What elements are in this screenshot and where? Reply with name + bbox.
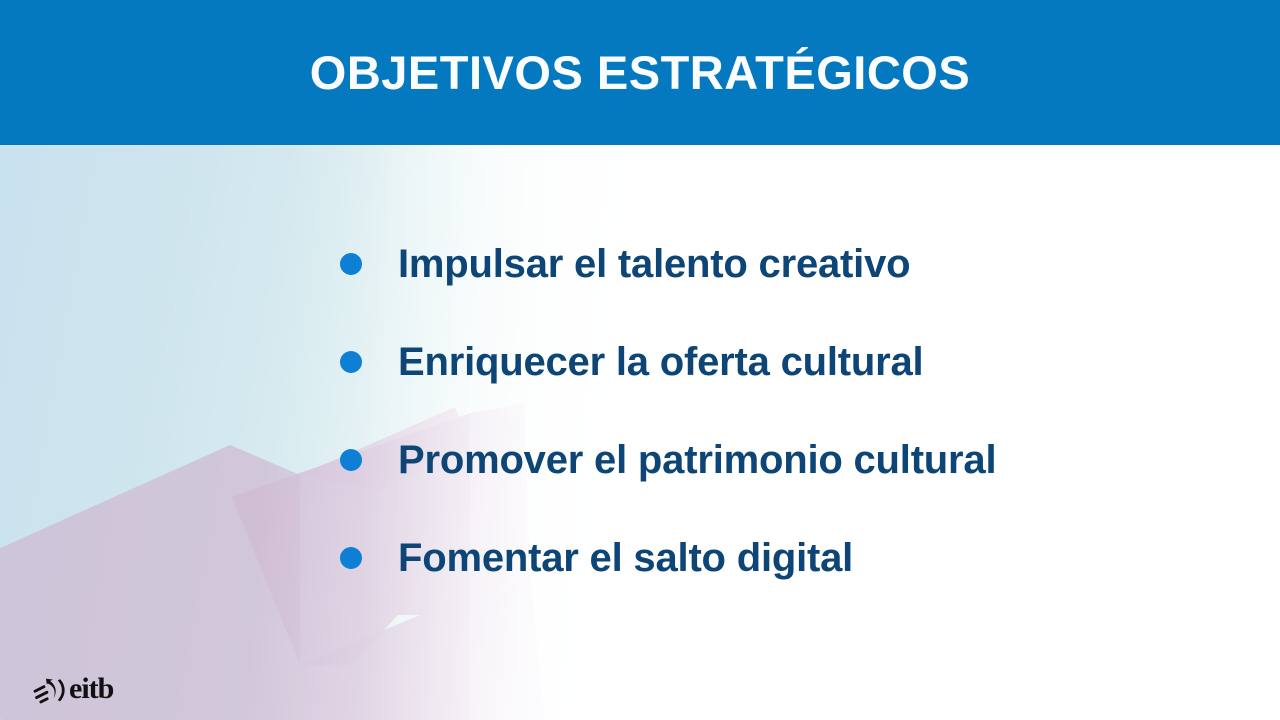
bullet-dot-icon xyxy=(340,547,362,569)
bullet-dot-icon xyxy=(340,351,362,373)
eitb-wordmark: eitb xyxy=(69,674,113,704)
page-title: OBJETIVOS ESTRATÉGICOS xyxy=(0,0,1280,145)
eitb-swoosh-icon xyxy=(32,674,68,704)
list-item-label: Impulsar el talento creativo xyxy=(398,244,910,284)
list-item: Impulsar el talento creativo xyxy=(340,232,996,295)
presentation-slide: OBJETIVOS ESTRATÉGICOS Impulsar el talen… xyxy=(0,0,1280,720)
list-item: Promover el patrimonio cultural xyxy=(340,428,996,491)
bullet-dot-icon xyxy=(340,253,362,275)
bullet-dot-icon xyxy=(340,449,362,471)
list-item: Fomentar el salto digital xyxy=(340,526,996,589)
list-item-label: Enriquecer la oferta cultural xyxy=(398,342,923,382)
objectives-list: Impulsar el talento creativo Enriquecer … xyxy=(340,232,996,589)
list-item-label: Fomentar el salto digital xyxy=(398,538,853,578)
eitb-logo: eitb xyxy=(32,674,113,704)
list-item-label: Promover el patrimonio cultural xyxy=(398,440,996,480)
list-item: Enriquecer la oferta cultural xyxy=(340,330,996,393)
